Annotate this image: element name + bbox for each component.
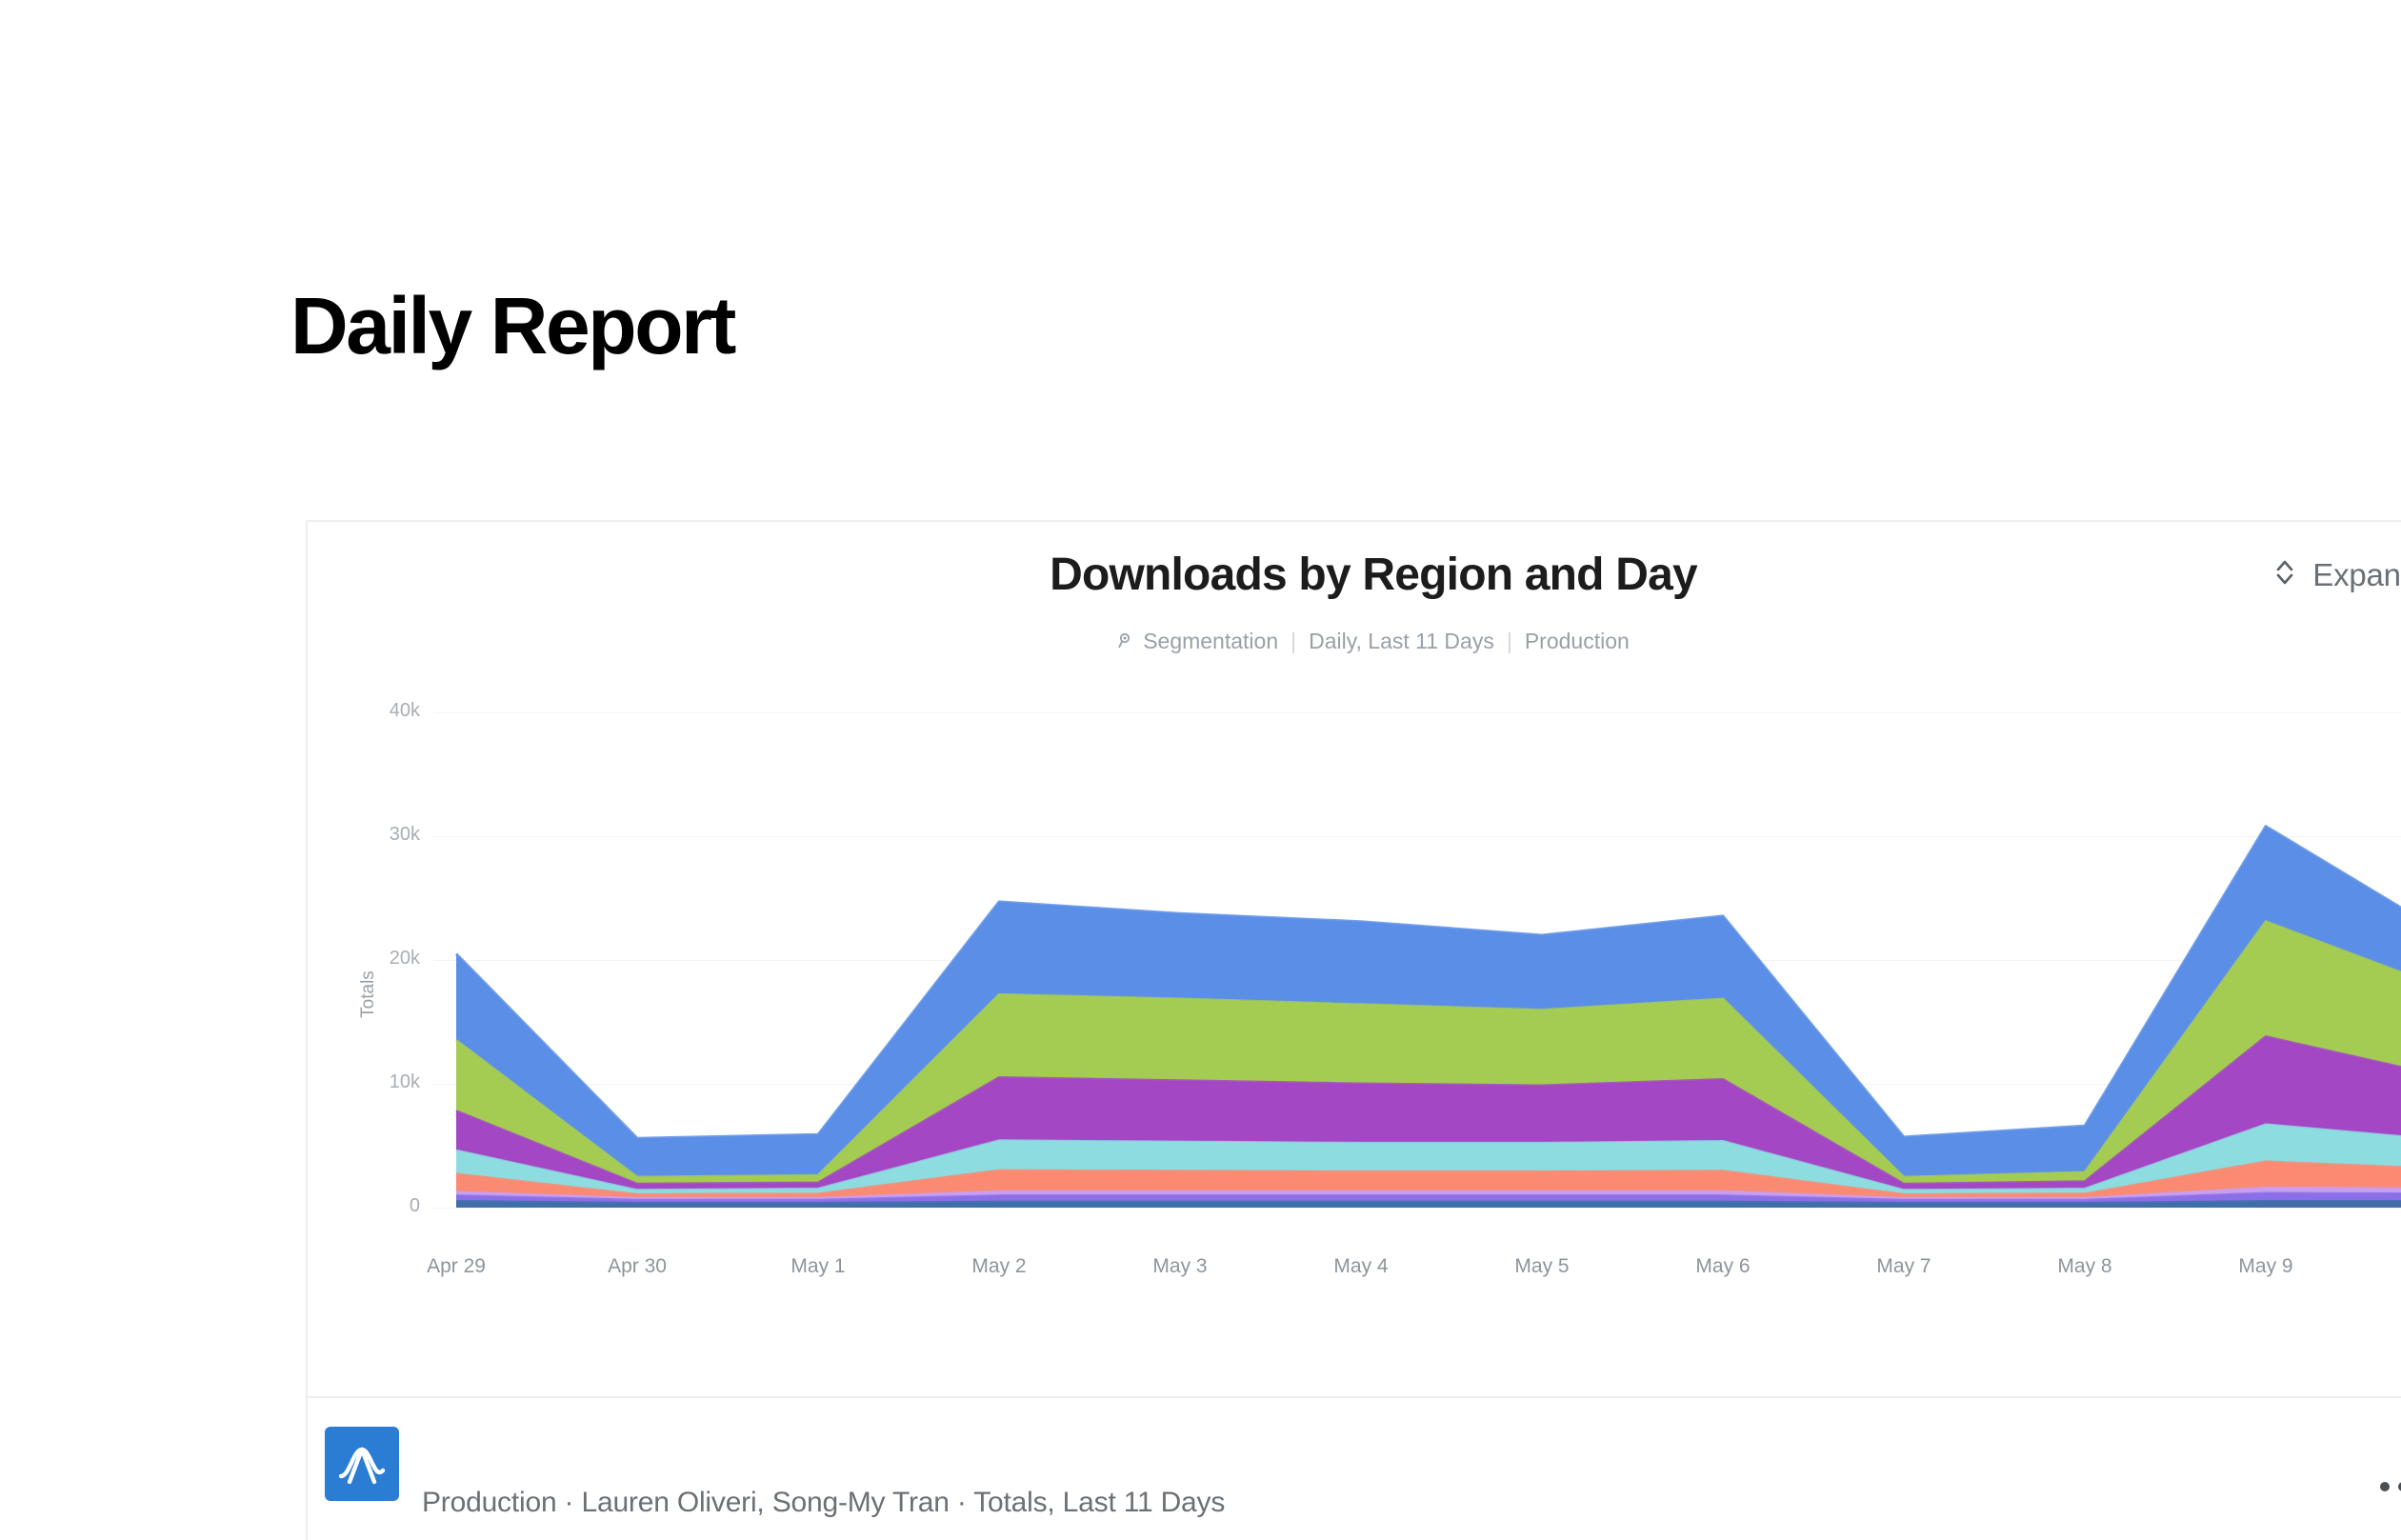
- x-tick-label: May 7: [1876, 1255, 1931, 1278]
- x-tick-label: Apr 30: [608, 1255, 667, 1278]
- chevron-up-down-icon: [2271, 556, 2299, 593]
- y-tick-label: 20k: [334, 948, 420, 970]
- x-tick-label: May 8: [2057, 1255, 2111, 1278]
- y-tick-label: 30k: [334, 824, 420, 846]
- stacked-area-plot[interactable]: [433, 712, 2401, 1208]
- chart-header: Downloads by Region and Day Segmentation…: [308, 522, 2401, 712]
- x-tick-label: Apr 29: [427, 1255, 486, 1278]
- x-tick-label: May 5: [1514, 1255, 1569, 1278]
- amplitude-logo-icon: [325, 1427, 399, 1501]
- x-tick-label: May 2: [971, 1255, 1026, 1278]
- x-tick-label: May 4: [1333, 1255, 1388, 1278]
- page-title: Daily Report: [290, 286, 734, 366]
- y-tick-label: 10k: [334, 1071, 420, 1093]
- more-horizontal-icon[interactable]: [2380, 1482, 2401, 1491]
- subtitle-divider-1: |: [1291, 629, 1296, 654]
- chart-subtitle: Segmentation|Daily, Last 11 Days|Product…: [308, 629, 2401, 656]
- x-tick-label: May 9: [2238, 1255, 2292, 1278]
- dot-1: [2380, 1482, 2390, 1491]
- footer-meta-text: Production · Lauren Oliveri, Song-My Tra…: [422, 1487, 1225, 1519]
- y-tick-label: 0: [334, 1195, 420, 1217]
- report-card: Downloads by Region and Day Segmentation…: [306, 520, 2401, 1540]
- segmentation-icon: [1117, 630, 1136, 656]
- chart-title: Downloads by Region and Day: [308, 549, 2401, 601]
- plot-frame: Totals 010k20k30k40k Apr 29Apr 30May 1Ma…: [308, 712, 2401, 1398]
- subtitle-project-label: Production: [1525, 629, 1630, 653]
- subtitle-interval-label: Daily, Last 11 Days: [1309, 629, 1494, 653]
- subtitle-divider-2: |: [1507, 629, 1512, 654]
- x-tick-label: May 3: [1152, 1255, 1207, 1278]
- y-tick-label: 40k: [334, 700, 420, 722]
- card-footer: Production · Lauren Oliveri, Song-My Tra…: [308, 1396, 2401, 1540]
- subtitle-segmentation-label: Segmentation: [1143, 629, 1278, 653]
- expand-button-label: Expand: [2312, 557, 2401, 593]
- x-tick-label: May 6: [1695, 1255, 1750, 1278]
- x-tick-label: May 1: [790, 1255, 845, 1278]
- expand-button[interactable]: Expand: [2271, 556, 2401, 593]
- grid-line: [433, 1208, 2401, 1209]
